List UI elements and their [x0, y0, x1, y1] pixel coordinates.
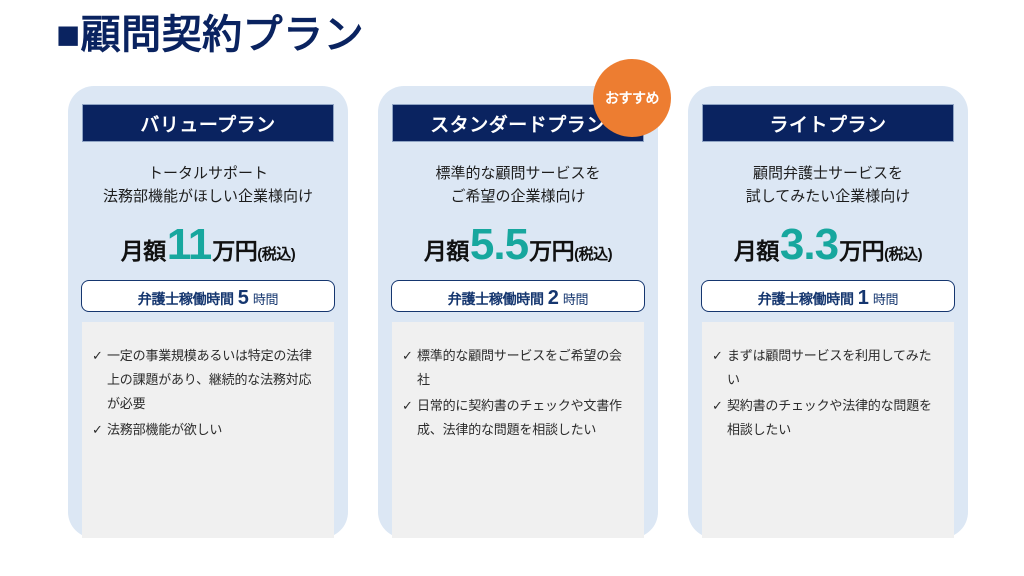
- price-prefix: 月額: [121, 232, 166, 266]
- list-item: ✓ 標準的な顧問サービスをご希望の会社: [402, 344, 634, 392]
- plan-name-label: バリュープラン: [140, 110, 275, 137]
- check-icon: ✓: [402, 344, 417, 368]
- check-icon: ✓: [712, 344, 727, 368]
- list-item: ✓ まずは顧問サービスを利用してみたい: [712, 344, 944, 392]
- plan-name-label: ライトプラン: [769, 110, 886, 137]
- pricing-plan-cards: バリュープラン トータルサポート 法務部機能がほしい企業様向け 月額 11 万円…: [68, 86, 968, 541]
- price-amount: 5.5: [470, 223, 528, 267]
- feature-text: 日常的に契約書のチェックや文書作成、法律的な問題を相談したい: [417, 394, 634, 442]
- plan-description: トータルサポート 法務部機能がほしい企業様向け: [80, 162, 336, 209]
- hours-value: 1: [858, 287, 869, 310]
- price-tax-note: (税込): [574, 243, 612, 264]
- plan-description: 顧問弁護士サービスを 試してみたい企業様向け: [700, 162, 956, 209]
- price-unit: 万円: [212, 232, 257, 266]
- hours-label: 弁護士稼働時間: [758, 289, 854, 309]
- price-prefix: 月額: [424, 232, 469, 266]
- plan-feature-list: ✓ 一定の事業規模あるいは特定の法律上の課題があり、継続的な法務対応が必要 ✓ …: [82, 322, 334, 539]
- plan-description-line1: 標準的な顧問サービスを: [390, 162, 646, 185]
- plan-hours-badge: 弁護士稼働時間 1 時間: [701, 280, 955, 312]
- plan-feature-list: ✓ まずは顧問サービスを利用してみたい ✓ 契約書のチェックや法律的な問題を相談…: [702, 322, 954, 539]
- plan-price: 月額 5.5 万円 (税込): [424, 223, 612, 267]
- plan-card-light[interactable]: ライトプラン 顧問弁護士サービスを 試してみたい企業様向け 月額 3.3 万円 …: [688, 86, 968, 538]
- list-item: ✓ 一定の事業規模あるいは特定の法律上の課題があり、継続的な法務対応が必要: [92, 344, 324, 416]
- hours-suffix: 時間: [873, 289, 898, 308]
- list-item: ✓ 日常的に契約書のチェックや文書作成、法律的な問題を相談したい: [402, 394, 634, 442]
- feature-text: 一定の事業規模あるいは特定の法律上の課題があり、継続的な法務対応が必要: [107, 344, 324, 416]
- plan-hours-badge: 弁護士稼働時間 2 時間: [391, 280, 645, 312]
- check-icon: ✓: [92, 344, 107, 368]
- hours-value: 5: [238, 287, 249, 310]
- plan-card-standard[interactable]: スタンダードプラン おすすめ 標準的な顧問サービスを ご希望の企業様向け 月額 …: [378, 86, 658, 538]
- plan-hours-badge: 弁護士稼働時間 5 時間: [81, 280, 335, 312]
- price-amount: 3.3: [780, 223, 838, 267]
- plan-feature-list: ✓ 標準的な顧問サービスをご希望の会社 ✓ 日常的に契約書のチェックや文書作成、…: [392, 322, 644, 539]
- recommended-badge-label: おすすめ: [605, 88, 659, 108]
- plan-header-standard: スタンダードプラン おすすめ: [392, 104, 644, 142]
- feature-text: 法務部機能が欲しい: [107, 418, 324, 442]
- price-tax-note: (税込): [884, 243, 922, 264]
- check-icon: ✓: [712, 394, 727, 418]
- plan-card-value[interactable]: バリュープラン トータルサポート 法務部機能がほしい企業様向け 月額 11 万円…: [68, 86, 348, 538]
- plan-price: 月額 11 万円 (税込): [121, 223, 296, 267]
- hours-value: 2: [548, 287, 559, 310]
- list-item: ✓ 法務部機能が欲しい: [92, 418, 324, 442]
- list-item: ✓ 契約書のチェックや法律的な問題を相談したい: [712, 394, 944, 442]
- plan-header-value: バリュープラン: [82, 104, 334, 142]
- page-title: ■顧問契約プラン: [56, 12, 364, 58]
- price-tax-note: (税込): [257, 243, 295, 264]
- plan-description-line1: トータルサポート: [80, 162, 336, 185]
- feature-text: 契約書のチェックや法律的な問題を相談したい: [727, 394, 944, 442]
- price-amount: 11: [167, 223, 212, 267]
- plan-header-light: ライトプラン: [702, 104, 954, 142]
- price-unit: 万円: [839, 232, 884, 266]
- plan-name-label: スタンダードプラン: [430, 110, 606, 137]
- plan-price: 月額 3.3 万円 (税込): [734, 223, 922, 267]
- plan-description-line2: 試してみたい企業様向け: [700, 185, 956, 208]
- feature-text: まずは顧問サービスを利用してみたい: [727, 344, 944, 392]
- hours-label: 弁護士稼働時間: [448, 289, 544, 309]
- hours-suffix: 時間: [563, 289, 588, 308]
- plan-description: 標準的な顧問サービスを ご希望の企業様向け: [390, 162, 646, 209]
- price-prefix: 月額: [734, 232, 779, 266]
- check-icon: ✓: [92, 418, 107, 442]
- hours-label: 弁護士稼働時間: [138, 289, 234, 309]
- feature-text: 標準的な顧問サービスをご希望の会社: [417, 344, 634, 392]
- plan-description-line2: ご希望の企業様向け: [390, 185, 646, 208]
- plan-description-line1: 顧問弁護士サービスを: [700, 162, 956, 185]
- plan-description-line2: 法務部機能がほしい企業様向け: [80, 185, 336, 208]
- hours-suffix: 時間: [253, 289, 278, 308]
- price-unit: 万円: [529, 232, 574, 266]
- check-icon: ✓: [402, 394, 417, 418]
- recommended-badge: おすすめ: [593, 59, 671, 137]
